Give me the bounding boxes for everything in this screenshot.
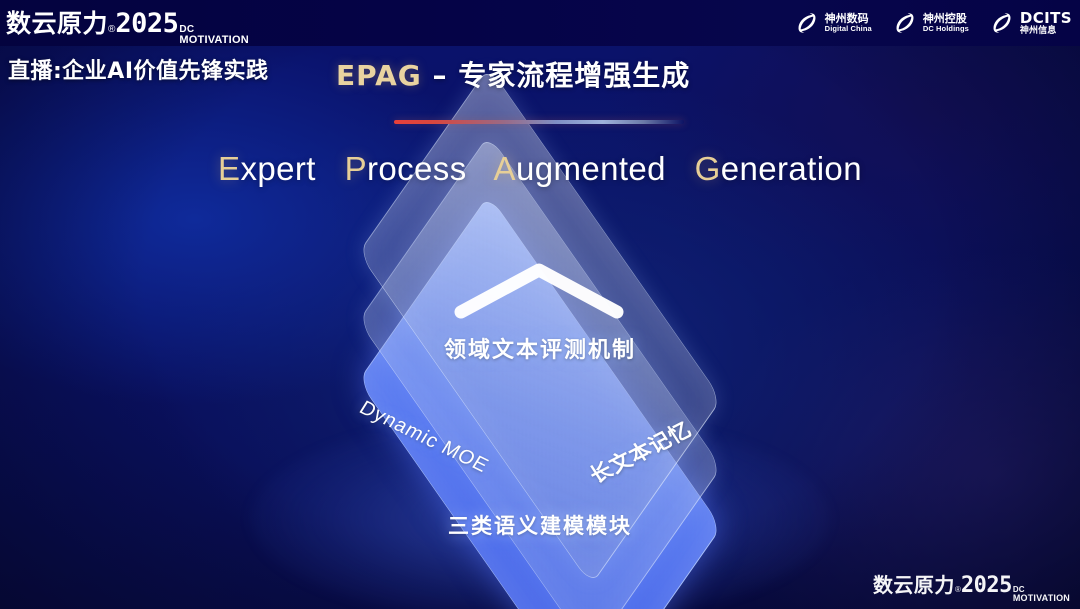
subtitle-rest-rocess: rocess [367,150,467,187]
subtitle-rest-ugmented: ugmented [516,150,666,187]
subtitle-space-1 [325,150,335,187]
subtitle-space-2 [476,150,486,187]
watermark-year: 2025 [961,573,1012,598]
subtitle-expansion: Expert Process Augmented Generation [0,150,1080,188]
brand-logo-year: 2025 [115,8,178,39]
stack-layer-bottom-label: 三类语义建模模块 [253,510,827,540]
partner-logo-dcits: DCITS 神州信息 [989,10,1072,36]
swirl-logo-icon [892,10,918,36]
partner-logo-dc-holdings: 神州控股 DC Holdings [892,10,969,36]
subtitle-cap-e: E [218,150,240,187]
slide-stage: 数云原力®2025DCMOTIVATION 神州数码 Digital China… [0,0,1080,609]
swirl-logo-icon [989,10,1015,36]
subtitle-rest-xpert: xpert [240,150,315,187]
partner-name-en: DC Holdings [923,25,969,33]
brand-logo-chinese: 数云原力 [6,4,108,40]
subtitle-rest-eneration: eneration [721,150,862,187]
subtitle-cap-a: A [494,150,516,187]
watermark-dcmotivation: DCMOTIVATION [1013,586,1070,603]
page-title: EPAG – 专家流程增强生成 [336,54,690,94]
brand-logo-dcmotivation: DCMOTIVATION [179,25,248,46]
watermark-motivation: MOTIVATION [1013,594,1070,603]
headline-chinese: 专家流程增强生成 [458,59,690,92]
chevron-up-icon [449,258,629,320]
brand-logo-top-left: 数云原力®2025DCMOTIVATION [6,4,249,46]
gradient-divider [394,120,684,124]
brand-logo-watermark: 数云原力®2025DCMOTIVATION [873,569,1070,603]
registered-mark-icon: ® [108,24,115,35]
subtitle-cap-g: G [695,150,721,187]
brand-logo-motivation: MOTIVATION [179,35,248,46]
subtitle-word-augmented: Augmented [494,150,666,187]
watermark-chinese: 数云原力 [873,569,955,598]
subtitle-word-process: Process [345,150,467,187]
headline-separator: – [422,59,459,92]
partner-logo-text: DCITS 神州信息 [1020,10,1072,36]
partner-logo-text: 神州控股 DC Holdings [923,13,969,33]
partner-name-en: 神州信息 [1020,26,1072,36]
layer-stack-diagram: 领域文本评测机制 Dynamic MOE 长文本记忆 三类语义建模模块 [253,214,827,574]
subtitle-space-3 [676,150,686,187]
headline-acronym: EPAG [336,59,422,92]
subtitle-cap-p: P [345,150,367,187]
live-stream-title: 直播:企业AI价值先锋实践 [8,53,269,85]
partner-name-en: Digital China [825,25,872,33]
subtitle-word-generation: Generation [695,150,862,187]
swirl-logo-icon [794,10,820,36]
partner-logo-digital-china: 神州数码 Digital China [794,10,872,36]
partner-name-cn: DCITS [1020,10,1072,26]
partner-logo-text: 神州数码 Digital China [825,13,872,33]
partner-logo-group: 神州数码 Digital China 神州控股 DC Holdings DCIT… [794,5,1072,41]
stack-layer-top-label: 领域文本评测机制 [253,332,827,364]
subtitle-word-expert: Expert [218,150,316,187]
